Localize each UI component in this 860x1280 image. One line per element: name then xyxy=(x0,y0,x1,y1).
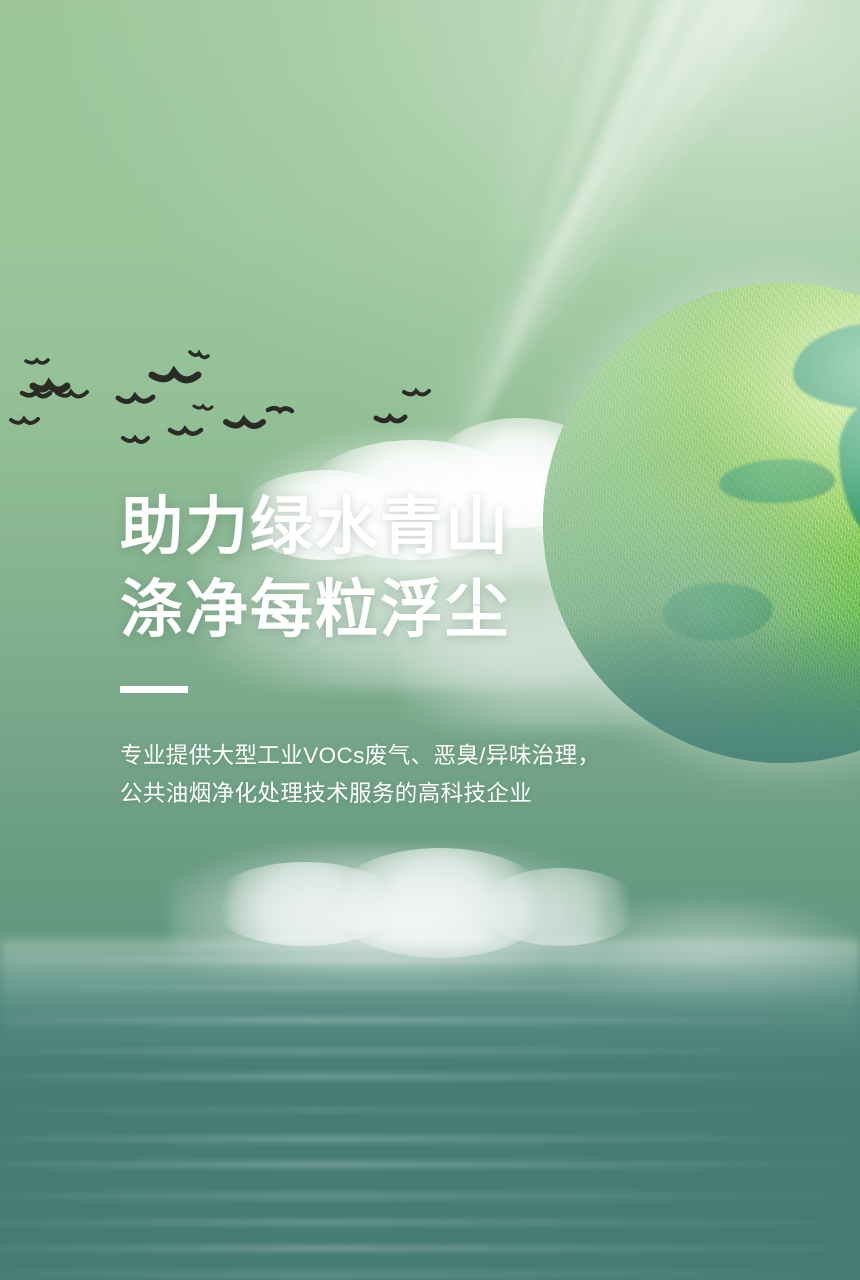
bird-icon xyxy=(123,438,148,442)
banner-content: 助力绿水青山 涤净每粒浮尘 专业提供大型工业VOCs废气、恶臭/异味治理， 公共… xyxy=(120,486,680,813)
bird-icon xyxy=(11,419,38,423)
subtitle-line-1: 专业提供大型工业VOCs废气、恶臭/异味治理， xyxy=(120,737,680,775)
bird-icon xyxy=(170,429,201,434)
water-sheen xyxy=(0,940,860,1060)
bird-icon xyxy=(26,360,48,363)
bird-icon xyxy=(22,392,50,396)
bird-icon xyxy=(190,352,208,357)
bird-icon xyxy=(152,372,198,380)
bird-icon-group xyxy=(11,352,429,442)
bird-icon xyxy=(118,396,153,402)
subtitle-line-2: 公共油烟净化处理技术服务的高科技企业 xyxy=(120,775,680,813)
headline-line-2: 涤净每粒浮尘 xyxy=(120,569,680,652)
bird-icon xyxy=(268,408,292,411)
headline-divider xyxy=(120,686,188,693)
bird-icon xyxy=(404,391,429,395)
bird-icon xyxy=(194,406,212,409)
bird-icon xyxy=(376,417,405,421)
eco-hero-banner: 助力绿水青山 涤净每粒浮尘 专业提供大型工业VOCs废气、恶臭/异味治理， 公共… xyxy=(0,0,860,1280)
headline-line-1: 助力绿水青山 xyxy=(120,486,680,569)
bird-icon xyxy=(226,420,263,426)
bird-icon xyxy=(33,384,67,390)
bird-flock xyxy=(0,330,480,460)
